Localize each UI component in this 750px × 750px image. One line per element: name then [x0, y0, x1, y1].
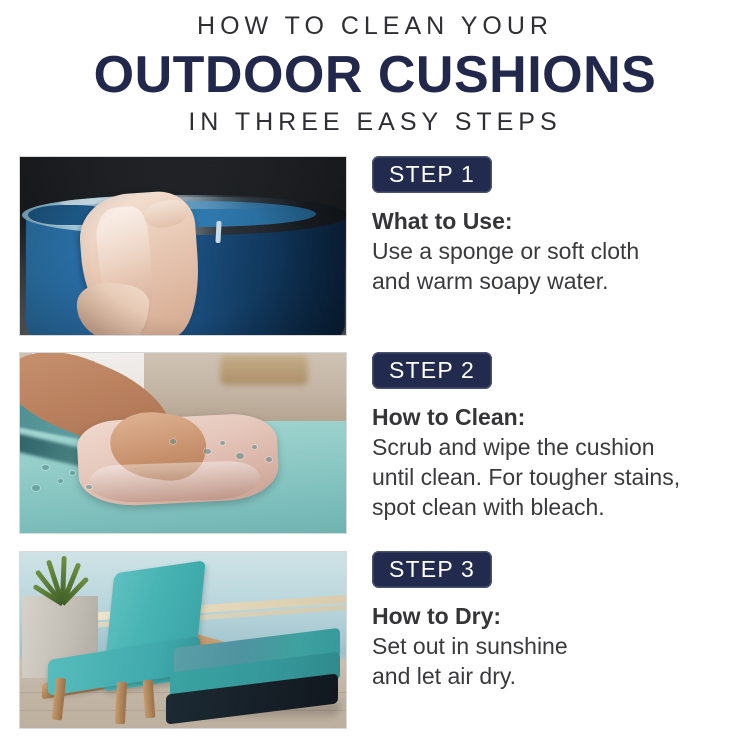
- step-3-photo: [19, 551, 347, 729]
- water-droplet: [266, 457, 272, 462]
- step-1-text: STEP 1 What to Use: Use a sponge or soft…: [347, 156, 731, 296]
- step-1-badge: STEP 1: [372, 156, 492, 193]
- step-row-1: STEP 1 What to Use: Use a sponge or soft…: [19, 156, 731, 336]
- water-droplet: [236, 453, 244, 459]
- step-1-line-2: and warm soapy water.: [372, 266, 731, 296]
- step-3-text: STEP 3 How to Dry: Set out in sunshine a…: [347, 551, 731, 691]
- step-2-heading: How to Clean:: [372, 403, 731, 432]
- agave-plant: [30, 554, 96, 604]
- step-3-line-1: Set out in sunshine: [372, 631, 731, 661]
- water-droplet: [58, 479, 63, 483]
- step-2-badge: STEP 2: [372, 352, 492, 389]
- water-droplet: [86, 485, 92, 489]
- step-row-2: STEP 2 How to Clean: Scrub and wipe the …: [19, 352, 731, 534]
- step-2-line-3: spot clean with bleach.: [372, 492, 731, 522]
- step-1-line-1: Use a sponge or soft cloth: [372, 236, 731, 266]
- water-droplet: [220, 441, 225, 445]
- water-droplet: [252, 445, 257, 449]
- header: HOW TO CLEAN YOUR OUTDOOR CUSHIONS IN TH…: [0, 0, 750, 137]
- water-droplet: [42, 465, 49, 470]
- step-2-line-2: until clean. For tougher stains,: [372, 462, 731, 492]
- water-droplet: [70, 471, 75, 475]
- photo-vignette: [20, 157, 346, 335]
- infographic-page: HOW TO CLEAN YOUR OUTDOOR CUSHIONS IN TH…: [0, 0, 750, 750]
- page-title: OUTDOOR CUSHIONS: [0, 47, 750, 103]
- water-droplet: [170, 439, 176, 444]
- step-3-heading: How to Dry:: [372, 602, 731, 631]
- step-row-3: STEP 3 How to Dry: Set out in sunshine a…: [19, 551, 731, 729]
- step-2-photo: [19, 352, 347, 534]
- header-subkicker: IN THREE EASY STEPS: [0, 107, 750, 137]
- background-blurred-object: [220, 355, 308, 385]
- step-1-photo: [19, 156, 347, 336]
- water-droplet: [204, 449, 211, 454]
- stacked-cushions: [166, 638, 340, 716]
- step-2-line-1: Scrub and wipe the cushion: [372, 432, 731, 462]
- water-droplet: [32, 485, 40, 491]
- step-2-text: STEP 2 How to Clean: Scrub and wipe the …: [347, 352, 731, 522]
- step-3-badge: STEP 3: [372, 551, 492, 588]
- header-kicker: HOW TO CLEAN YOUR: [0, 11, 750, 41]
- step-3-line-2: and let air dry.: [372, 661, 731, 691]
- step-1-heading: What to Use:: [372, 207, 731, 236]
